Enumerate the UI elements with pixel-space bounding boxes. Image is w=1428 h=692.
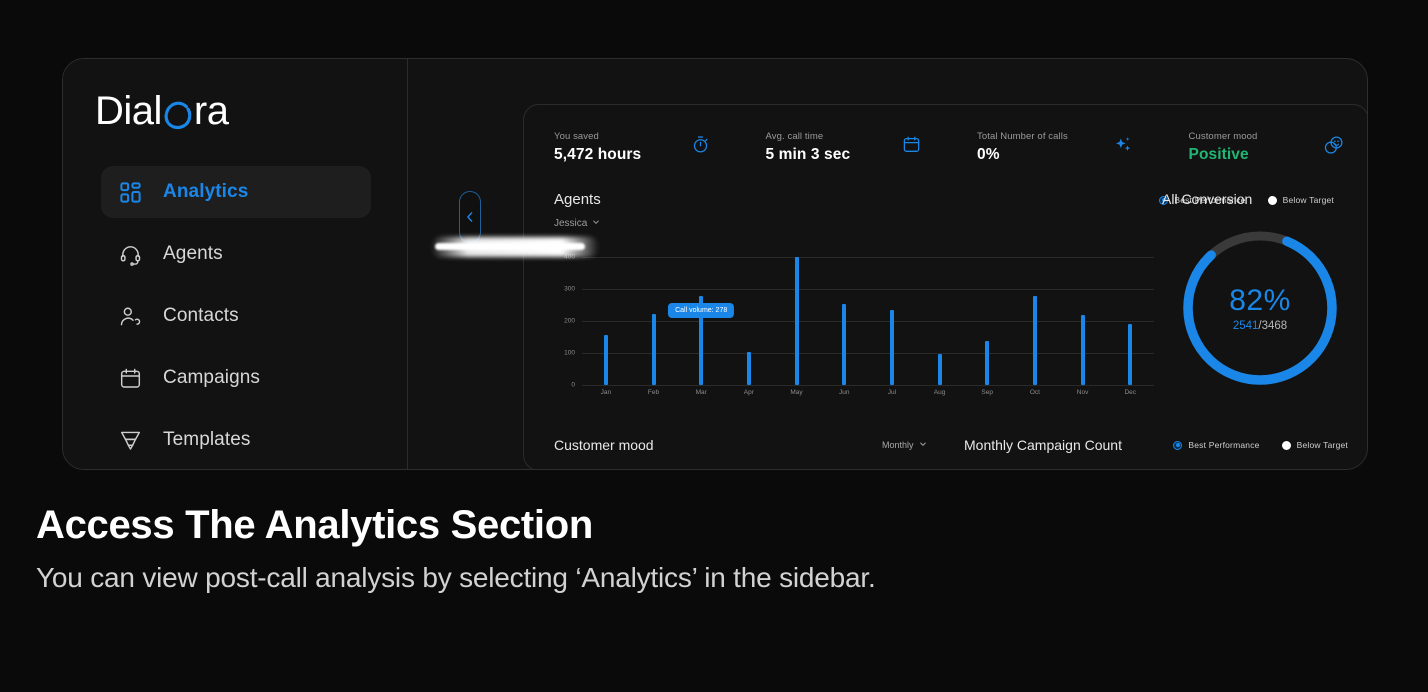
caption-subtitle: You can view post-call analysis by selec…: [36, 562, 1336, 594]
chart-x-tick: Aug: [916, 389, 964, 396]
all-conversion-section: All Conversion 82% 2541/3468: [1152, 191, 1368, 391]
sidebar-nav: Analytics Agents: [101, 166, 371, 470]
chart-x-tick: Jul: [868, 389, 916, 396]
calendar-icon: [117, 365, 143, 391]
caption-title: Access The Analytics Section: [36, 503, 1336, 548]
moods-icon: [1323, 135, 1344, 161]
grid-dashboard-icon: [117, 179, 143, 205]
chart-x-tick: Sep: [963, 389, 1011, 396]
stat-card-you-saved: You saved 5,472 hours: [524, 105, 736, 183]
chart-x-tick: Dec: [1106, 389, 1154, 396]
stat-caption: Total Number of calls: [977, 131, 1068, 142]
chart-bar[interactable]: [1033, 296, 1037, 385]
funnel-icon: [117, 427, 143, 453]
legend-label: Below Target: [1297, 440, 1348, 450]
chevron-left-icon: [465, 211, 475, 223]
chart-x-tick: May: [773, 389, 821, 396]
chart-bar[interactable]: [985, 341, 989, 385]
chart-bar[interactable]: [795, 257, 799, 385]
stat-value: 5,472 hours: [554, 146, 641, 164]
monthly-campaign-count-title: Monthly Campaign Count: [964, 437, 1122, 453]
headset-icon: [117, 241, 143, 267]
stat-card-avg-call-time: Avg. call time 5 min 3 sec: [736, 105, 948, 183]
conversion-title: All Conversion: [1162, 191, 1368, 207]
stat-caption: Customer mood: [1189, 131, 1258, 142]
stopwatch-icon: [691, 135, 710, 159]
conversion-donut-chart: 82% 2541/3468: [1177, 225, 1343, 391]
logo-text-after: ra: [194, 89, 229, 134]
logo-text-before: Dial: [95, 89, 162, 134]
chart-tooltip: Call volume: 278: [668, 303, 734, 318]
chart-bar-column[interactable]: [630, 257, 678, 385]
sidebar-item-label: Contacts: [163, 305, 239, 327]
chevron-down-icon: [592, 218, 600, 229]
chart-bar-column[interactable]: Call volume: 278: [677, 257, 725, 385]
chart-bar[interactable]: [652, 314, 656, 385]
chart-bar[interactable]: [604, 335, 608, 385]
sidebar-item-analytics[interactable]: Analytics: [101, 166, 371, 218]
dashed-ring-icon: [163, 100, 193, 130]
chart-bar-column[interactable]: [582, 257, 630, 385]
agent-select-dropdown[interactable]: Jessica: [554, 218, 600, 229]
chart-bar-column[interactable]: [1011, 257, 1059, 385]
chart-x-tick: Jun: [820, 389, 868, 396]
period-select-value: Monthly: [882, 440, 914, 450]
app-window: Dial r: [62, 58, 1368, 470]
chart-bar-column[interactable]: [868, 257, 916, 385]
agent-select-value: Jessica: [554, 218, 587, 229]
sidebar-item-campaigns[interactable]: Campaigns: [101, 352, 371, 404]
sidebar-item-contacts[interactable]: Contacts: [101, 290, 371, 342]
sidebar-collapse-button[interactable]: [459, 191, 481, 243]
chart-bar-column[interactable]: [1106, 257, 1154, 385]
conversion-fraction: 2541/3468: [1233, 320, 1287, 332]
call-volume-bar-chart: 0100200300400Call volume: 278 JanFebMarA…: [554, 257, 1154, 405]
chart-bar-column[interactable]: [773, 257, 821, 385]
app-logo: Dial r: [95, 89, 228, 134]
chart-x-tick: Apr: [725, 389, 773, 396]
sidebar-item-agents[interactable]: Agents: [101, 228, 371, 280]
calendar-icon: [902, 135, 921, 159]
chart-x-tick: Mar: [677, 389, 725, 396]
donut-center-labels: 82% 2541/3468: [1177, 225, 1343, 391]
chart-plot-area: 0100200300400Call volume: 278: [582, 257, 1154, 385]
stat-card-customer-mood: Customer mood Positive: [1159, 105, 1369, 183]
chart-bar[interactable]: [842, 304, 846, 385]
stat-value: Positive: [1189, 146, 1258, 164]
user-add-icon: [117, 303, 143, 329]
chart-legend-bottom: Best Performance Below Target: [1173, 440, 1348, 450]
sidebar-item-label: Campaigns: [163, 367, 260, 389]
sidebar-item-label: Templates: [163, 429, 251, 451]
stat-value: 0%: [977, 146, 1068, 164]
chart-x-axis: JanFebMarAprMayJunJulAugSepOctNovDec: [582, 389, 1154, 396]
chart-x-tick: Nov: [1059, 389, 1107, 396]
period-select-dropdown[interactable]: Monthly: [882, 440, 927, 450]
stat-card-total-calls: Total Number of calls 0%: [947, 105, 1159, 183]
stat-caption: Avg. call time: [766, 131, 851, 142]
sidebar-item-label: Agents: [163, 243, 223, 265]
chart-bar[interactable]: [1128, 324, 1132, 385]
chart-bar-column[interactable]: [820, 257, 868, 385]
conversion-denominator: /3468: [1258, 320, 1287, 332]
chart-bar-column[interactable]: [916, 257, 964, 385]
chart-y-tick: 300: [564, 286, 575, 293]
chart-y-tick: 200: [564, 318, 575, 325]
stat-value: 5 min 3 sec: [766, 146, 851, 164]
chart-bars: Call volume: 278: [582, 257, 1154, 385]
caption-block: Access The Analytics Section You can vie…: [36, 503, 1336, 594]
chart-x-tick: Jan: [582, 389, 630, 396]
chevron-down-icon: [919, 440, 927, 450]
sidebar-item-label: Analytics: [163, 181, 248, 203]
chart-bar-column[interactable]: [963, 257, 1011, 385]
chart-x-tick: Feb: [630, 389, 678, 396]
stats-row: You saved 5,472 hours Avg.: [524, 105, 1368, 183]
customer-mood-title: Customer mood: [554, 437, 654, 453]
chart-bar[interactable]: [890, 310, 894, 385]
agents-title: Agents: [554, 191, 601, 208]
sidebar: Dial r: [63, 59, 408, 470]
chart-bar-column[interactable]: [1059, 257, 1107, 385]
chart-x-tick: Oct: [1011, 389, 1059, 396]
dot-icon: [1282, 441, 1291, 450]
chart-y-tick: 400: [564, 254, 575, 261]
chart-bar[interactable]: [1081, 315, 1085, 385]
legend-item-below-target[interactable]: Below Target: [1282, 440, 1348, 450]
sidebar-item-templates[interactable]: Templates: [101, 414, 371, 466]
stat-caption: You saved: [554, 131, 641, 142]
conversion-numerator: 2541: [1233, 320, 1259, 332]
legend-item-best-performance[interactable]: Best Performance: [1173, 440, 1259, 450]
chart-bar[interactable]: [938, 354, 942, 385]
conversion-percent: 82%: [1229, 284, 1291, 318]
legend-label: Best Performance: [1188, 440, 1259, 450]
screenshot-root: Dial r: [0, 0, 1428, 692]
chart-bar-column[interactable]: [725, 257, 773, 385]
chart-y-tick: 0: [571, 382, 575, 389]
dashboard-bottom-row: Customer mood Monthly Monthly Campaign C…: [524, 420, 1368, 470]
agents-header: Agents Jessica: [554, 191, 601, 231]
sparkles-icon: [1113, 135, 1133, 160]
chart-gridline: [582, 385, 1154, 386]
analytics-dashboard: You saved 5,472 hours Avg.: [523, 104, 1368, 470]
radio-selected-icon: [1173, 441, 1182, 450]
chart-bar[interactable]: [747, 352, 751, 385]
chart-y-tick: 100: [564, 350, 575, 357]
